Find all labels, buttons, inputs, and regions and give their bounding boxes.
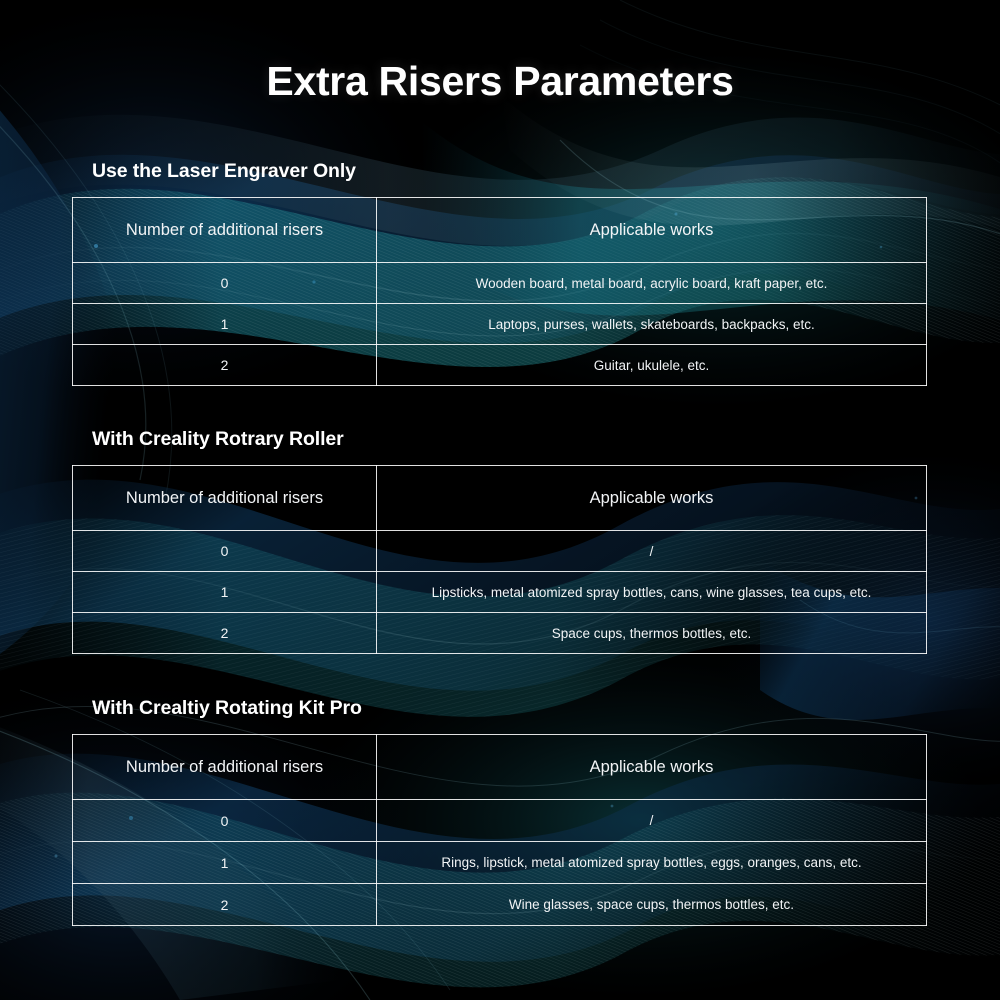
table-header-row: Number of additional risers Applicable w…	[73, 198, 927, 263]
table-header-row: Number of additional risers Applicable w…	[73, 466, 927, 531]
page-title: Extra Risers Parameters	[0, 58, 1000, 105]
cell-works: Space cups, thermos bottles, etc.	[377, 613, 927, 654]
table-row: 1 Laptops, purses, wallets, skateboards,…	[73, 304, 927, 345]
section-heading: Use the Laser Engraver Only	[92, 160, 926, 183]
section-crealtiy-rotating-kit-pro: With Crealtiy Rotating Kit Pro Number of…	[72, 697, 926, 926]
cell-risers: 2	[73, 345, 377, 386]
cell-works: /	[377, 800, 927, 842]
risers-table-crealtiy-rotating-kit-pro: Number of additional risers Applicable w…	[72, 734, 927, 926]
section-heading: With Crealtiy Rotating Kit Pro	[92, 697, 926, 720]
cell-risers: 0	[73, 531, 377, 572]
cell-risers: 1	[73, 304, 377, 345]
column-header-works: Applicable works	[377, 466, 927, 531]
cell-risers: 2	[73, 884, 377, 926]
table-row: 2 Guitar, ukulele, etc.	[73, 345, 927, 386]
cell-risers: 0	[73, 263, 377, 304]
risers-table-creality-rotrary-roller: Number of additional risers Applicable w…	[72, 465, 927, 654]
column-header-risers: Number of additional risers	[73, 198, 377, 263]
cell-risers: 1	[73, 572, 377, 613]
cell-works: Rings, lipstick, metal atomized spray bo…	[377, 842, 927, 884]
cell-works: /	[377, 531, 927, 572]
table-row: 2 Space cups, thermos bottles, etc.	[73, 613, 927, 654]
cell-works: Guitar, ukulele, etc.	[377, 345, 927, 386]
risers-table-laser-engraver-only: Number of additional risers Applicable w…	[72, 197, 927, 386]
cell-risers: 2	[73, 613, 377, 654]
section-creality-rotrary-roller: With Creality Rotrary Roller Number of a…	[72, 428, 926, 654]
table-row: 0 /	[73, 531, 927, 572]
section-heading: With Creality Rotrary Roller	[92, 428, 926, 451]
cell-works: Wooden board, metal board, acrylic board…	[377, 263, 927, 304]
table-row: 2 Wine glasses, space cups, thermos bott…	[73, 884, 927, 926]
table-row: 1 Lipsticks, metal atomized spray bottle…	[73, 572, 927, 613]
cell-risers: 0	[73, 800, 377, 842]
table-row: 0 Wooden board, metal board, acrylic boa…	[73, 263, 927, 304]
cell-works: Lipsticks, metal atomized spray bottles,…	[377, 572, 927, 613]
table-header-row: Number of additional risers Applicable w…	[73, 735, 927, 800]
cell-works: Wine glasses, space cups, thermos bottle…	[377, 884, 927, 926]
cell-risers: 1	[73, 842, 377, 884]
column-header-works: Applicable works	[377, 198, 927, 263]
table-row: 1 Rings, lipstick, metal atomized spray …	[73, 842, 927, 884]
column-header-works: Applicable works	[377, 735, 927, 800]
section-laser-engraver-only: Use the Laser Engraver Only Number of ad…	[72, 160, 926, 386]
table-row: 0 /	[73, 800, 927, 842]
column-header-risers: Number of additional risers	[73, 735, 377, 800]
column-header-risers: Number of additional risers	[73, 466, 377, 531]
cell-works: Laptops, purses, wallets, skateboards, b…	[377, 304, 927, 345]
poster-page: Extra Risers Parameters Use the Laser En…	[0, 0, 1000, 1000]
